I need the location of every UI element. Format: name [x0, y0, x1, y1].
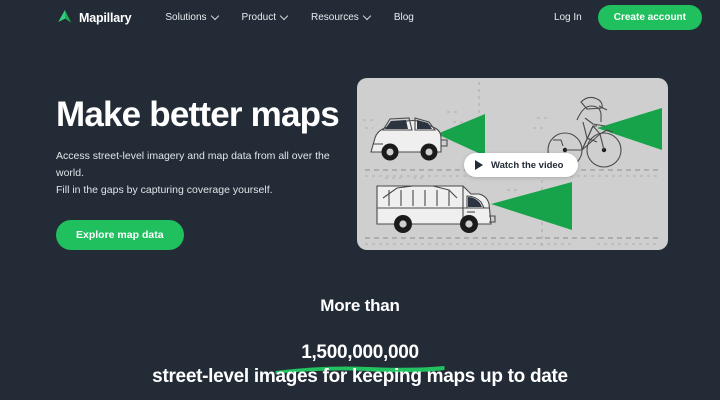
watch-the-video-button[interactable]: Watch the video: [464, 153, 578, 177]
mapillary-arrow-icon: [56, 9, 73, 26]
nav-item-product[interactable]: Product: [242, 12, 288, 23]
login-link[interactable]: Log In: [554, 12, 582, 23]
car-figure: [371, 118, 447, 161]
nav-item-solutions[interactable]: Solutions: [165, 12, 218, 23]
play-triangle-icon: [475, 160, 483, 170]
nav-actions: Log In Create account: [554, 5, 702, 30]
logo[interactable]: Mapillary: [56, 9, 131, 26]
chevron-down-icon: [212, 13, 219, 20]
chevron-down-icon: [364, 13, 371, 20]
nav-label-blog: Blog: [394, 12, 414, 23]
nav-item-blog[interactable]: Blog: [394, 12, 414, 23]
logo-text: Mapillary: [79, 11, 131, 25]
stats-kicker: More than: [0, 296, 720, 316]
stat-caption: street-level images for keeping maps up …: [152, 366, 568, 388]
nav-links: Solutions Product Resources Blog: [165, 12, 413, 23]
van-figure: [377, 186, 495, 233]
stats-section: More than 1,500,000,000 street-level ima…: [0, 296, 720, 388]
hero-subtitle-line1: Access street-level imagery and map data…: [56, 150, 330, 179]
chevron-down-icon: [281, 13, 288, 20]
nav-item-resources[interactable]: Resources: [311, 12, 371, 23]
nav-label-product: Product: [242, 12, 276, 23]
hero-subtitle: Access street-level imagery and map data…: [56, 148, 356, 200]
watch-video-label: Watch the video: [491, 160, 564, 171]
create-account-button[interactable]: Create account: [598, 5, 702, 30]
navbar: Mapillary Solutions Product Resources Bl…: [0, 0, 720, 35]
stat-number: 1,500,000,000: [301, 342, 419, 364]
nav-label-resources: Resources: [311, 12, 359, 23]
stat-block: 1,500,000,000 street-level images for ke…: [152, 342, 568, 388]
hero-subtitle-line2: Fill in the gaps by capturing coverage y…: [56, 184, 273, 196]
nav-label-solutions: Solutions: [165, 12, 206, 23]
explore-map-data-button[interactable]: Explore map data: [56, 220, 184, 250]
